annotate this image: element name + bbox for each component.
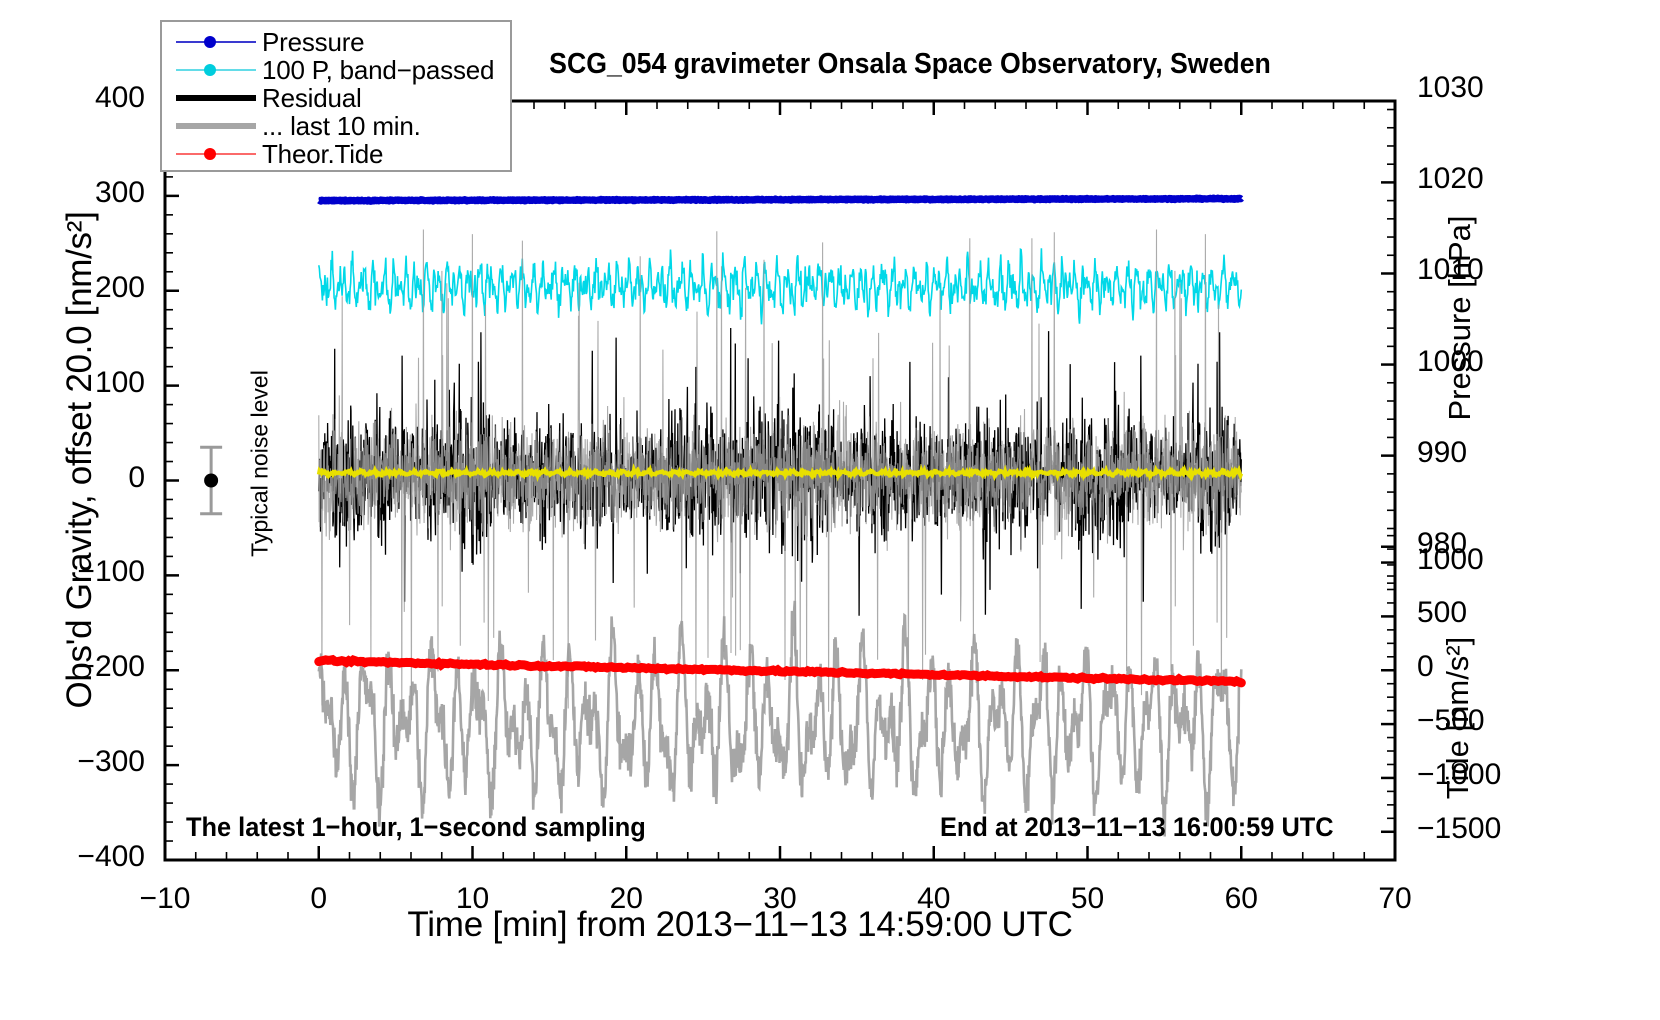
x-tick-5: 40 xyxy=(874,882,994,916)
legend-item-last10min[interactable]: ... last 10 min. xyxy=(162,112,510,140)
legend-label-pressure: Pressure xyxy=(262,27,364,58)
chart-title: SCG_054 gravimeter Onsala Space Observat… xyxy=(468,48,1351,81)
y-tick-pressure-1: 1020 xyxy=(1417,162,1527,196)
legend-label-last10min: ... last 10 min. xyxy=(262,111,421,142)
y-tick-left-8: −400 xyxy=(20,840,145,874)
legend-item-pressure[interactable]: Pressure xyxy=(162,28,510,56)
y-tick-left-7: −300 xyxy=(20,745,145,779)
legend-label-bandpassed: 100 P, band−passed xyxy=(262,55,494,86)
x-tick-2: 10 xyxy=(413,882,533,916)
noise-level-label: Typical noise level xyxy=(247,334,274,594)
x-tick-0: −10 xyxy=(105,882,225,916)
x-tick-4: 30 xyxy=(720,882,840,916)
y-tick-tide-3: −500 xyxy=(1417,704,1547,738)
x-tick-7: 60 xyxy=(1181,882,1301,916)
y-tick-tide-0: 1000 xyxy=(1417,543,1547,577)
y-tick-left-2: 200 xyxy=(20,271,145,305)
y-tick-tide-2: 0 xyxy=(1417,650,1547,684)
y-tick-tide-1: 500 xyxy=(1417,596,1547,630)
legend-item-residual[interactable]: Residual xyxy=(162,84,510,112)
x-tick-8: 70 xyxy=(1335,882,1455,916)
legend[interactable]: Pressure 100 P, band−passed Residual ...… xyxy=(160,20,512,172)
x-tick-3: 20 xyxy=(566,882,686,916)
legend-label-theortide: Theor.Tide xyxy=(262,139,383,170)
y-tick-pressure-3: 1000 xyxy=(1417,345,1527,379)
legend-item-theortide[interactable]: Theor.Tide xyxy=(162,140,510,168)
x-tick-6: 50 xyxy=(1028,882,1148,916)
y-tick-left-4: 0 xyxy=(20,461,145,495)
legend-swatch-theortide xyxy=(170,140,262,168)
x-tick-1: 0 xyxy=(259,882,379,916)
legend-swatch-last10min xyxy=(170,112,262,140)
y-tick-left-3: 100 xyxy=(20,366,145,400)
y-tick-left-1: 300 xyxy=(20,176,145,210)
legend-swatch-pressure xyxy=(170,28,262,56)
legend-label-residual: Residual xyxy=(262,83,362,114)
legend-swatch-bandpassed xyxy=(170,56,262,84)
sampling-note: The latest 1−hour, 1−second sampling xyxy=(186,812,646,843)
y-tick-left-6: −200 xyxy=(20,650,145,684)
y-axis-right-pressure-title: Pressure [hPa] xyxy=(1442,88,1478,548)
chart-canvas: SCG_054 gravimeter Onsala Space Observat… xyxy=(0,0,1660,1020)
y-tick-pressure-2: 1010 xyxy=(1417,253,1527,287)
end-time-note: End at 2013−11−13 16:00:59 UTC xyxy=(940,812,1334,843)
y-tick-tide-5: −1500 xyxy=(1417,812,1547,846)
y-tick-pressure-0: 1030 xyxy=(1417,71,1527,105)
y-tick-tide-4: −1000 xyxy=(1417,758,1547,792)
y-tick-left-0: 400 xyxy=(20,81,145,115)
y-tick-left-5: −100 xyxy=(20,555,145,589)
y-tick-pressure-4: 990 xyxy=(1417,436,1527,470)
legend-item-bandpassed[interactable]: 100 P, band−passed xyxy=(162,56,510,84)
legend-swatch-residual xyxy=(170,84,262,112)
